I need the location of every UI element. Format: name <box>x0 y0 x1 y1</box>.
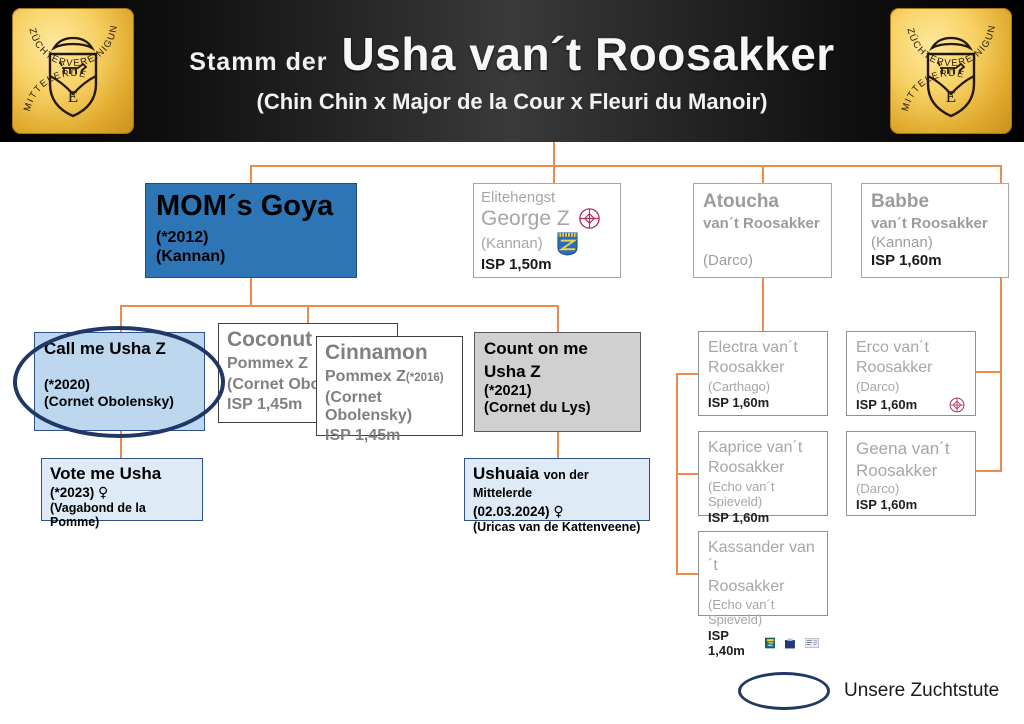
node-moms-goya[interactable]: MOM´s Goya (*2012) (Kannan) <box>145 183 357 278</box>
node-name: Ushuaia <box>473 464 539 483</box>
node-electra[interactable]: Electra van´t Roosakker (Carthago) ISP 1… <box>698 331 828 416</box>
node-year: (*2023) <box>50 485 94 500</box>
node-line: Roosakker <box>708 578 819 596</box>
pedigree-chart: ZÜCHTERVEREINIGUNG MITTELERDE E Stamm de… <box>0 0 1024 724</box>
connector-callme-votme <box>120 430 122 458</box>
node-line-text: Pommex Z <box>325 368 406 385</box>
node-george-z[interactable]: Elitehengst George Z (Kannan) ISP 1,50m <box>473 183 621 278</box>
node-name: Babbe <box>871 191 1000 213</box>
node-atoucha[interactable]: Atoucha van´t Roosakker (Darco) <box>693 183 832 278</box>
node-name: Geena van´t <box>856 439 967 459</box>
connector-drop-george <box>553 165 555 183</box>
connector-kassander-in <box>676 573 698 575</box>
node-sire: (Kannan) <box>481 235 543 252</box>
node-name: Electra van´t <box>708 339 819 357</box>
connector-drop-atoucha <box>762 165 764 183</box>
node-babbe[interactable]: Babbe van´t Roosakker (Kannan) ISP 1,60m <box>861 183 1009 278</box>
node-year: (*2016) <box>406 372 444 384</box>
connector-geena-in <box>976 470 1002 472</box>
svg-text:E: E <box>68 87 78 106</box>
node-sire: (Echo van´t Spieveld) <box>708 480 819 510</box>
node-sire: (Carthago) <box>708 380 819 395</box>
legend-label: Unsere Zuchtstute <box>844 680 999 702</box>
node-isp: ISP 1,45m <box>325 427 454 445</box>
node-line: van´t Roosakker <box>871 215 1000 232</box>
node-sire: (Kannan) <box>871 234 1000 251</box>
connector-drop-babbe <box>1000 165 1002 183</box>
breeders-association-logo-left: ZÜCHTERVEREINIGUNG MITTELERDE E <box>12 8 134 134</box>
page-header: ZÜCHTERVEREINIGUNG MITTELERDE E Stamm de… <box>0 0 1024 142</box>
node-sire: (Darco) <box>856 482 967 497</box>
node-count-on-me-usha-z[interactable]: Count on me Usha Z (*2021) (Cornet du Ly… <box>474 332 641 432</box>
logo-crest-icon: ZÜCHTERVEREINIGUNG MITTELERDE E <box>12 8 134 134</box>
logo-crest-icon: ZÜCHTERVEREINIGUNG MITTELERDE E <box>890 8 1012 134</box>
node-name: Atoucha <box>703 191 823 213</box>
node-name: Call me Usha Z <box>44 339 195 359</box>
node-geena[interactable]: Geena van´t Roosakker (Darco) ISP 1,60m <box>846 431 976 516</box>
node-line: Pommex Z(*2016) <box>325 368 454 386</box>
node-isp: ISP 1,50m <box>481 256 613 273</box>
connector-drop-goya <box>250 165 252 183</box>
node-sire: (Cornet Obolensky) <box>44 393 195 409</box>
certificate-badge-icon <box>805 637 819 649</box>
node-sire: (Cornet du Lys) <box>484 400 631 417</box>
node-isp: ISP 1,60m <box>871 252 1000 269</box>
legend-ellipse-marker <box>738 672 830 710</box>
node-line: Roosakker <box>856 461 967 481</box>
connector-electra-in <box>676 373 698 375</box>
mare-symbol-icon: ♀ <box>98 485 108 501</box>
studbook-badge-icon <box>785 637 795 650</box>
node-sire: (Darco) <box>703 252 823 269</box>
node-year: (*2021) <box>484 383 631 400</box>
breeders-association-logo-right: ZÜCHTERVEREINIGUNG MITTELERDE E <box>890 8 1012 134</box>
node-year: (*2012) <box>156 229 346 247</box>
connector-right-bus <box>1000 371 1002 471</box>
connector-root-stem <box>553 142 555 166</box>
node-sire: (Darco) <box>856 380 967 395</box>
connector-goya-down <box>250 278 252 305</box>
node-name: Kaprice van´t <box>708 439 819 457</box>
node-name: MOM´s Goya <box>156 190 346 223</box>
node-sire: (Echo van´t Spieveld) <box>708 598 819 628</box>
header-pre-title: Stamm der <box>189 48 327 77</box>
node-name: Kassander van´t <box>708 539 819 576</box>
node-sire: (Vagabond de la Pomme) <box>50 501 194 530</box>
mare-symbol-icon: ♀ <box>553 504 563 520</box>
node-name-line2: Usha Z <box>484 362 631 382</box>
node-isp: ISP 1,60m <box>856 498 967 513</box>
connector-counton-ushuaia <box>557 432 559 458</box>
node-isp: ISP 1,40m <box>708 629 755 659</box>
svg-text:E: E <box>946 87 956 106</box>
header-subtitle: (Chin Chin x Major de la Cour x Fleuri d… <box>257 89 768 115</box>
node-vote-me-usha[interactable]: Vote me Usha (*2023) ♀ (Vagabond de la P… <box>41 458 203 521</box>
node-sire: (Cornet Obolensky) <box>325 389 454 426</box>
connector-atoucha-electra <box>762 278 764 331</box>
stallion-approval-icon <box>947 395 967 415</box>
node-year-sex: (*2023) ♀ <box>50 485 194 501</box>
connector-kaprice-in <box>676 473 698 475</box>
node-name-row: Ushuaia von der Mittelerde <box>473 464 641 503</box>
connector-babbe-down <box>1000 278 1002 371</box>
node-isp: ISP 1,60m <box>856 398 917 413</box>
node-line: Roosakker <box>856 359 967 377</box>
node-title: Elitehengst <box>481 189 613 206</box>
node-kaprice[interactable]: Kaprice van´t Roosakker (Echo van´t Spie… <box>698 431 828 516</box>
node-name: Cinnamon <box>325 341 454 365</box>
node-line: Roosakker <box>708 359 819 377</box>
stallion-approval-icon <box>577 206 602 231</box>
node-call-me-usha-z[interactable]: Call me Usha Z (*2020) (Cornet Obolensky… <box>34 332 205 431</box>
node-name: Vote me Usha <box>50 464 194 484</box>
node-isp: ISP 1,60m <box>708 396 819 411</box>
node-date-sex: (02.03.2024) ♀ <box>473 504 641 520</box>
node-date: (02.03.2024) <box>473 504 550 519</box>
node-isp: ISP 1,60m <box>708 511 819 526</box>
node-name: Erco van´t <box>856 339 967 357</box>
page-title: Usha van´t Roosakker <box>342 27 835 81</box>
zangersheide-badge-icon <box>765 636 776 650</box>
connector-drop-callme <box>120 305 122 332</box>
node-year: (*2020) <box>44 376 195 392</box>
legend: Unsere Zuchtstute <box>738 672 999 710</box>
node-erco[interactable]: Erco van´t Roosakker (Darco) ISP 1,60m <box>846 331 976 416</box>
node-line: Roosakker <box>708 459 819 477</box>
node-sire: (Uricas van de Kattenveene) <box>473 520 641 534</box>
connector-erco-in <box>976 371 1002 373</box>
connector-drop-coconut <box>307 305 309 323</box>
zangersheide-shield-icon <box>556 231 579 256</box>
node-name: George Z <box>481 207 570 231</box>
connector-gen1-bus <box>250 165 1000 167</box>
node-ushuaia[interactable]: Ushuaia von der Mittelerde (02.03.2024) … <box>464 458 650 521</box>
node-name-line1: Count on me <box>484 339 631 359</box>
node-kassander[interactable]: Kassander van´t Roosakker (Echo van´t Sp… <box>698 531 828 616</box>
connector-drop-counton <box>557 305 559 332</box>
node-sire: (Kannan) <box>156 248 346 266</box>
node-line: van´t Roosakker <box>703 215 823 232</box>
node-cinnamon[interactable]: Cinnamon Pommex Z(*2016) (Cornet Obolens… <box>316 336 463 436</box>
connector-gen2-bus <box>120 305 557 307</box>
